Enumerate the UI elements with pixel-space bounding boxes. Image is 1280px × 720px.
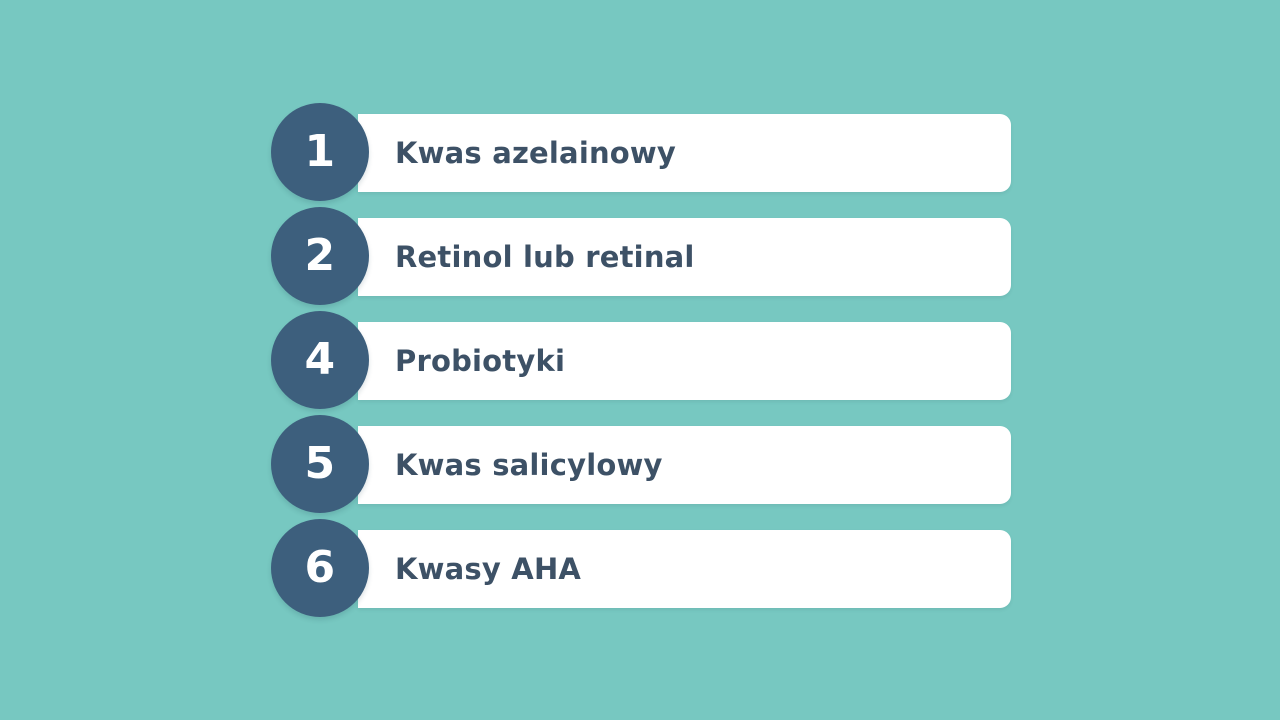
list-item[interactable]: 1 Kwas azelainowy — [271, 103, 1011, 181]
list-item-number-badge: 4 — [271, 311, 369, 409]
list-item-label: Kwas salicylowy — [395, 426, 663, 504]
list-item-number-badge: 1 — [271, 103, 369, 201]
list-item-number-badge: 6 — [271, 519, 369, 617]
numbered-list: 1 Kwas azelainowy 2 Retinol lub retinal … — [271, 103, 1011, 597]
list-item-label: Kwas azelainowy — [395, 114, 676, 192]
list-item-number: 1 — [304, 130, 335, 174]
list-item-label: Retinol lub retinal — [395, 218, 695, 296]
list-item-number: 4 — [304, 338, 335, 382]
list-item-number-badge: 5 — [271, 415, 369, 513]
list-item-number: 5 — [304, 442, 335, 486]
list-item-number-badge: 2 — [271, 207, 369, 305]
list-item[interactable]: 5 Kwas salicylowy — [271, 415, 1011, 493]
list-item[interactable]: 2 Retinol lub retinal — [271, 207, 1011, 285]
list-item-number: 6 — [304, 546, 335, 590]
list-item[interactable]: 6 Kwasy AHA — [271, 519, 1011, 597]
list-item-label: Probiotyki — [395, 322, 565, 400]
list-item[interactable]: 4 Probiotyki — [271, 311, 1011, 389]
list-item-number: 2 — [304, 234, 335, 278]
slide-canvas: 1 Kwas azelainowy 2 Retinol lub retinal … — [0, 0, 1280, 720]
list-item-label: Kwasy AHA — [395, 530, 581, 608]
